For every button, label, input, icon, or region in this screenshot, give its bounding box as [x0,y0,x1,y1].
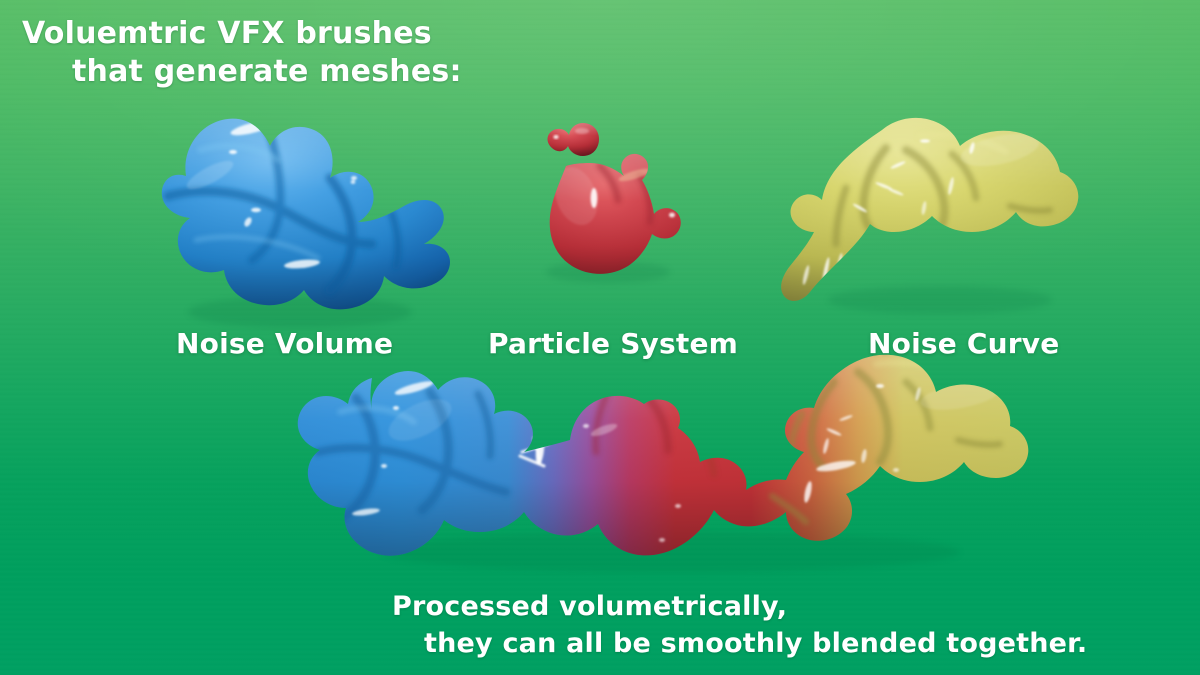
mesh-particle-system [540,123,700,288]
title-line-1: Voluemtric VFX brushes [22,16,432,51]
caption-line-1: Processed volumetrically, [392,591,787,622]
label-noise-volume: Noise Volume [176,327,393,360]
label-noise-curve: Noise Curve [868,327,1059,360]
particle-droplet [548,123,600,156]
mesh-blended-result [280,345,1040,572]
mesh-noise-curve [770,105,1100,320]
caption-line-2: they can all be smoothly blended togethe… [424,628,1087,659]
label-particle-system: Particle System [488,327,738,360]
mesh-noise-volume [150,110,470,328]
scene-canvas: Voluemtric VFX brushes that generate mes… [0,0,1200,675]
title-line-2: that generate meshes: [72,54,462,89]
